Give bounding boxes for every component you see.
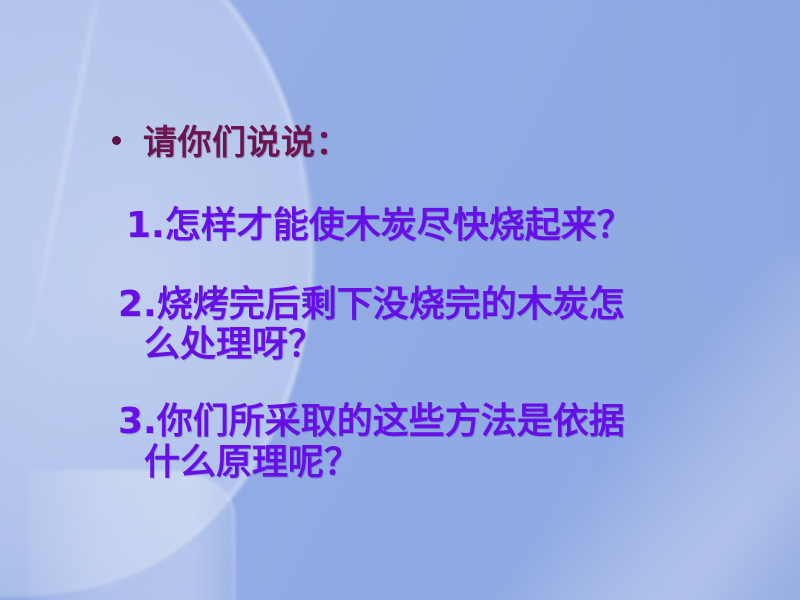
slide-content: 请你们说说： 1.怎样才能使木炭尽快烧起来？ 2.烧烤完后剩下没烧完的木炭怎么处… xyxy=(0,0,800,600)
question-number-1: 1. xyxy=(126,205,165,246)
question-number-2: 2. xyxy=(118,284,157,325)
slide-canvas: 请你们说说： 1.怎样才能使木炭尽快烧起来？ 2.烧烤完后剩下没烧完的木炭怎么处… xyxy=(0,0,800,600)
lead-line: 请你们说说： xyxy=(112,126,350,162)
question-text-1: 怎样才能使木炭尽快烧起来？ xyxy=(165,205,633,246)
lead-text: 请你们说说： xyxy=(143,126,350,162)
question-text-3: 你们所采取的这些方法是依据什么原理呢？ xyxy=(144,401,625,483)
question-item-3: 3.你们所采取的这些方法是依据什么原理呢？ xyxy=(118,402,658,483)
bullet-icon xyxy=(112,136,121,145)
question-item-2: 2.烧烤完后剩下没烧完的木炭怎么处理呀？ xyxy=(118,285,658,366)
question-item-1: 1.怎样才能使木炭尽快烧起来？ xyxy=(126,206,658,247)
question-list: 1.怎样才能使木炭尽快烧起来？ 2.烧烤完后剩下没烧完的木炭怎么处理呀？ 3.你… xyxy=(118,206,658,483)
question-number-3: 3. xyxy=(118,401,157,442)
question-text-2: 烧烤完后剩下没烧完的木炭怎么处理呀？ xyxy=(144,284,625,366)
